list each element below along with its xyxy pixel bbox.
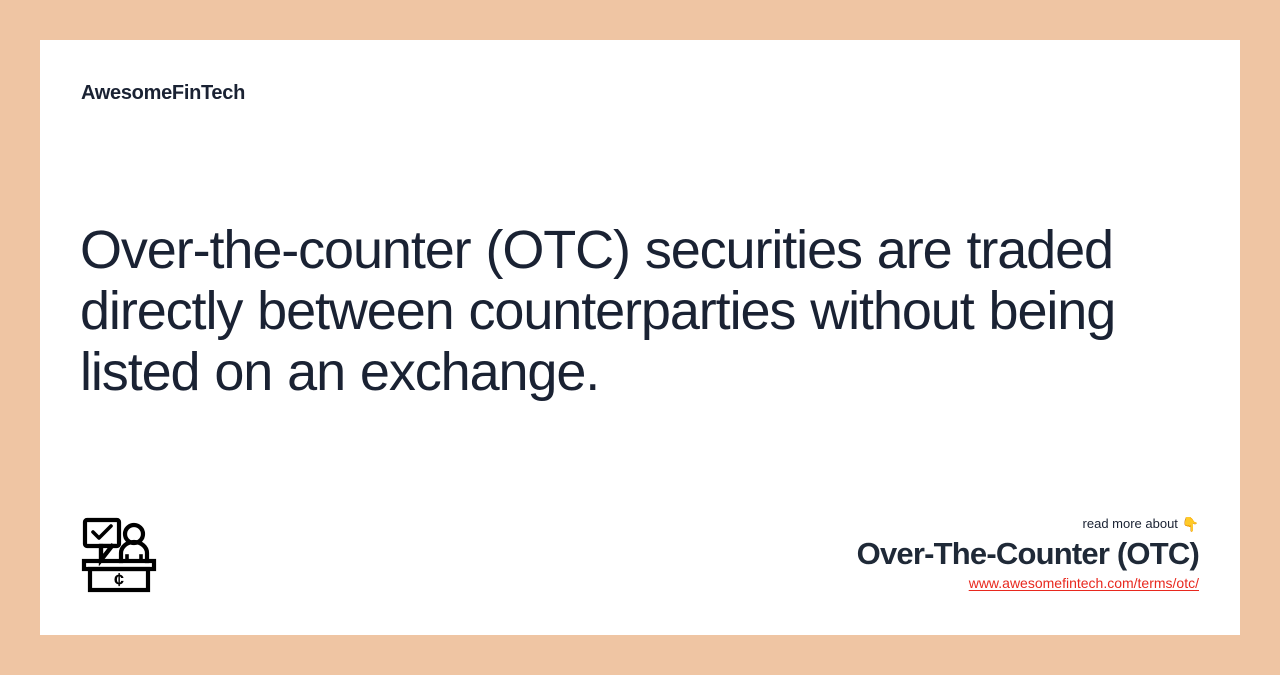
card-footer: ¢ read more about 👇 Over-The-Counter (OT… [40, 485, 1240, 635]
term-title: Over-The-Counter (OTC) [857, 535, 1199, 573]
read-more-label: read more about 👇 [857, 515, 1199, 533]
term-reference-block: read more about 👇 Over-The-Counter (OTC)… [857, 515, 1199, 593]
brand-logo-text[interactable]: AwesomeFinTech [81, 82, 245, 105]
read-more-text: read more about [1083, 516, 1178, 531]
content-card: AwesomeFinTech Over-the-counter (OTC) se… [40, 40, 1240, 635]
counter-teller-desk-icon: ¢ [81, 513, 161, 593]
pointing-down-icon: 👇 [1182, 516, 1199, 532]
page-title: Over-the-counter (OTC) securities are tr… [80, 220, 1210, 403]
page-canvas: AwesomeFinTech Over-the-counter (OTC) se… [0, 0, 1280, 675]
svg-text:¢: ¢ [114, 570, 124, 590]
term-url-link[interactable]: www.awesomefintech.com/terms/otc/ [969, 574, 1199, 592]
